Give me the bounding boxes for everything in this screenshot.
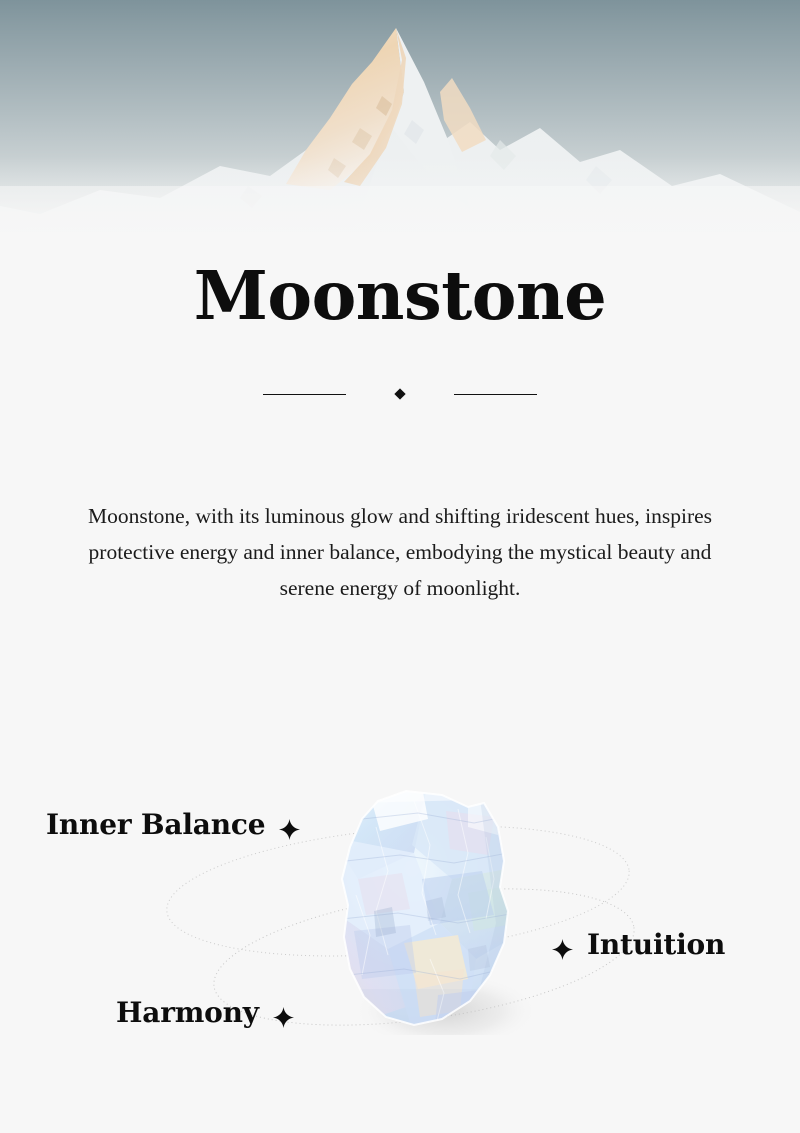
attribute-intuition[interactable]: Intuition: [552, 928, 725, 961]
decorative-divider: [0, 390, 800, 398]
diamond-ornament-icon: [394, 388, 405, 399]
attribute-inner-balance[interactable]: Inner Balance: [46, 808, 300, 841]
moonstone-product-page: Moonstone Moonstone, with its luminous g…: [0, 0, 800, 1133]
attribute-label-text: Harmony: [116, 996, 259, 1029]
attribute-label-text: Intuition: [587, 928, 725, 961]
crystal-stage: [318, 783, 542, 1035]
attribute-harmony[interactable]: Harmony: [116, 996, 294, 1029]
hero-banner: [0, 0, 800, 300]
intro-paragraph: Moonstone, with its luminous glow and sh…: [80, 498, 720, 606]
sparkle-icon: [279, 814, 300, 835]
mountain-illustration: [0, 0, 800, 300]
sparkle-icon: [552, 934, 573, 955]
divider-line-left: [263, 394, 346, 395]
page-title-container: Moonstone: [0, 262, 800, 329]
page-title: Moonstone: [0, 262, 800, 329]
divider-line-right: [454, 394, 537, 395]
moonstone-crystal-image: [318, 783, 542, 1035]
attribute-label-text: Inner Balance: [46, 808, 265, 841]
sparkle-icon: [273, 1002, 294, 1023]
